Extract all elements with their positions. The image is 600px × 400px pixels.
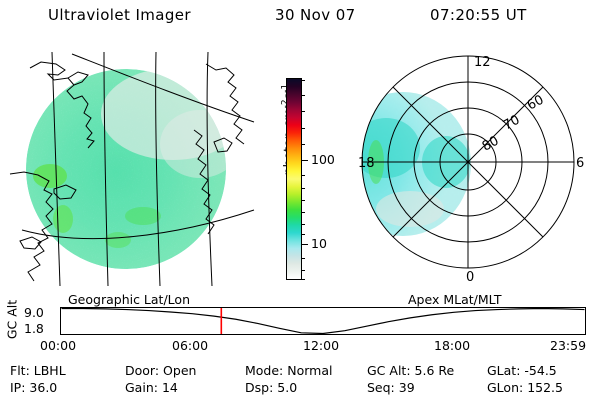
polar-panel-caption: Apex MLat/MLT [408, 292, 502, 307]
colorbar-tick-minor [301, 95, 305, 96]
status-mode-label: Mode: [245, 363, 283, 378]
colorbar-tick-minor [301, 111, 305, 112]
status-ip-label: IP: [10, 380, 25, 395]
status-glon: GLon: 152.5 [487, 380, 563, 395]
observation-date: 30 Nov 07 [275, 6, 356, 24]
status-footer: Flt: LBHL Door: Open Mode: Normal GC Alt… [0, 363, 600, 399]
colorbar-tick-major [301, 244, 308, 245]
colorbar-tick-major [301, 160, 308, 161]
status-mode-value: Normal [287, 363, 332, 378]
status-door: Door: Open [125, 363, 196, 378]
colorbar-tick-minor [301, 188, 305, 189]
status-gcalt: GC Alt: 5.6 Re [367, 363, 454, 378]
status-ip: IP: 36.0 [10, 380, 57, 395]
time-tick-label: 12:00 [303, 338, 339, 353]
page-title: Ultraviolet Imager [48, 6, 191, 24]
colorbar-tick-minor [301, 270, 305, 271]
colorbar-gradient-box[interactable] [286, 78, 302, 280]
status-gain-label: Gain: [125, 380, 158, 395]
colorbar-tick-minor [301, 144, 305, 145]
altitude-strip-panel: Geographic Lat/Lon Apex MLat/MLT GC Alt … [0, 292, 600, 348]
mlt-spokes [362, 56, 574, 268]
colorbar-tick-minor [301, 258, 305, 259]
mlt-label-12: 12 [474, 55, 491, 70]
status-gcalt-value: 5.6 Re [415, 363, 455, 378]
status-glat-value: -54.5 [524, 363, 556, 378]
time-tick-label: 18:00 [434, 338, 470, 353]
status-door-label: Door: [125, 363, 159, 378]
altitude-ytick-low: 1.8 [24, 321, 44, 336]
time-tick-label: 23:59 [550, 338, 586, 353]
status-flt: Flt: LBHL [10, 363, 66, 378]
colorbar-tick-minor [301, 224, 305, 225]
status-gcalt-label: GC Alt: [367, 363, 411, 378]
colorbar-tick-minor [301, 200, 305, 201]
status-flt-value: LBHL [34, 363, 66, 378]
altitude-ytick-high: 9.0 [24, 305, 44, 320]
mlt-label-18: 18 [358, 156, 375, 171]
altitude-plot[interactable] [60, 307, 586, 335]
status-dsp: Dsp: 5.0 [245, 380, 297, 395]
status-dsp-value: 5.0 [277, 380, 297, 395]
polar-mlat-mlt-panel[interactable]: 12 18 6 0 80 70 60 [358, 44, 598, 289]
colorbar-panel: photon cm-2s-1 100 10 [258, 44, 358, 289]
altitude-plot-frame [61, 308, 586, 335]
status-gain-value: 14 [162, 380, 178, 395]
mlt-label-0: 0 [466, 270, 474, 285]
geographic-image [8, 44, 258, 289]
polar-plot: 12 18 6 0 80 70 60 [358, 44, 598, 289]
status-flt-label: Flt: [10, 363, 30, 378]
colorbar-ticks: 100 10 [301, 78, 351, 280]
status-glat-label: GLat: [487, 363, 520, 378]
colorbar-tick-minor [301, 212, 305, 213]
status-glon-value: 152.5 [527, 380, 563, 395]
mlt-label-6: 6 [576, 156, 584, 171]
geographic-image-panel[interactable] [8, 44, 258, 289]
colorbar-tick-minor [301, 279, 305, 280]
colorbar-gradient [287, 79, 301, 279]
status-door-value: Open [163, 363, 196, 378]
status-seq-label: Seq: [367, 380, 395, 395]
colorbar-tick-label-100: 100 [311, 154, 335, 167]
uvi-display: Ultraviolet Imager 30 Nov 07 07:20:55 UT [0, 0, 600, 400]
colorbar-tick-label-10: 10 [311, 238, 327, 251]
time-tick-label: 00:00 [40, 338, 76, 353]
status-ip-value: 36.0 [29, 380, 57, 395]
observation-time: 07:20:55 UT [430, 6, 527, 24]
altitude-axis-label: GC Alt [5, 296, 20, 344]
altitude-trace-svg [60, 307, 586, 335]
status-row-2: IP: 36.0 Gain: 14 Dsp: 5.0 Seq: 39 GLon:… [0, 380, 600, 397]
status-dsp-label: Dsp: [245, 380, 273, 395]
geographic-panel-caption: Geographic Lat/Lon [68, 292, 190, 307]
colorbar-tick-minor [301, 234, 305, 235]
status-mode: Mode: Normal [245, 363, 333, 378]
status-row-1: Flt: LBHL Door: Open Mode: Normal GC Alt… [0, 363, 600, 380]
status-seq-value: 39 [399, 380, 415, 395]
status-glon-label: GLon: [487, 380, 523, 395]
header-bar: Ultraviolet Imager 30 Nov 07 07:20:55 UT [0, 6, 600, 32]
status-seq: Seq: 39 [367, 380, 415, 395]
time-axis-ticks: 00:00 06:00 12:00 18:00 23:59 [0, 338, 600, 354]
colorbar-tick-minor [301, 128, 305, 129]
status-gain: Gain: 14 [125, 380, 178, 395]
status-glat: GLat: -54.5 [487, 363, 557, 378]
colorbar-tick-minor [301, 80, 305, 81]
colorbar-tick-minor [301, 175, 305, 176]
time-tick-label: 06:00 [172, 338, 208, 353]
